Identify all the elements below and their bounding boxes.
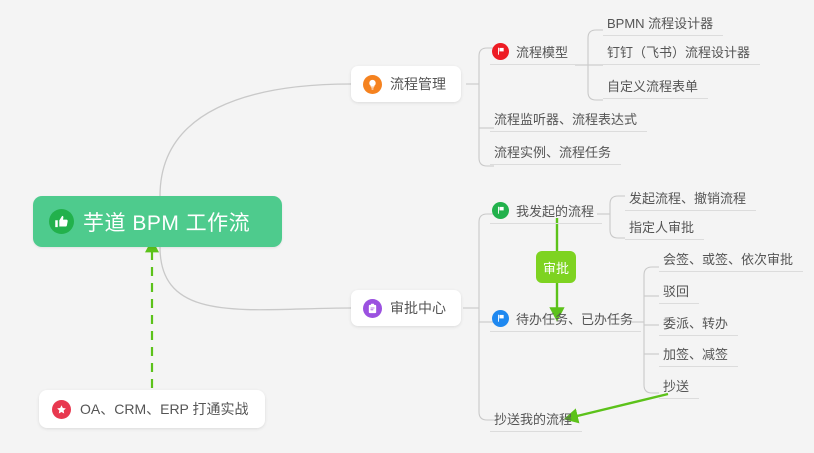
clipboard-icon [363, 299, 382, 318]
root-node[interactable]: 芋道 BPM 工作流 [33, 196, 282, 247]
leaf-node[interactable]: 流程监听器、流程表达式 [490, 105, 647, 132]
flag-icon [492, 43, 509, 60]
leaf-node[interactable]: 委派、转办 [659, 309, 738, 336]
node-my-initiated-processes[interactable]: 我发起的流程 [490, 197, 602, 224]
leaf-node[interactable]: 指定人审批 [625, 213, 704, 240]
node-label: 待办任务、已办任务 [516, 309, 633, 328]
flag-icon [492, 202, 509, 219]
thumbs-up-icon [49, 209, 74, 234]
lightbulb-icon [363, 75, 382, 94]
leaf-node[interactable]: 发起流程、撤销流程 [625, 184, 756, 211]
callout-node-integration[interactable]: OA、CRM、ERP 打通实战 [39, 390, 265, 428]
annotation-approve-label: 审批 [536, 251, 576, 283]
root-label: 芋道 BPM 工作流 [83, 207, 250, 237]
leaf-node[interactable]: 会签、或签、依次审批 [659, 245, 803, 272]
leaf-node[interactable]: 流程实例、流程任务 [490, 138, 621, 165]
leaf-node[interactable]: 抄送我的流程 [490, 405, 582, 432]
branch-node-process-management[interactable]: 流程管理 [351, 66, 461, 102]
leaf-node[interactable]: 驳回 [659, 277, 699, 304]
star-icon [52, 400, 71, 419]
mindmap-canvas: 芋道 BPM 工作流 流程管理 审批中心 [0, 0, 814, 453]
leaf-node[interactable]: 抄送 [659, 372, 699, 399]
branch-label: 审批中心 [390, 298, 446, 318]
callout-label: OA、CRM、ERP 打通实战 [80, 399, 249, 419]
node-label: 我发起的流程 [516, 201, 594, 220]
leaf-node[interactable]: 钉钉（飞书）流程设计器 [603, 38, 760, 65]
branch-node-approval-center[interactable]: 审批中心 [351, 290, 461, 326]
flag-icon [492, 310, 509, 327]
leaf-node[interactable]: BPMN 流程设计器 [603, 9, 723, 36]
node-label: 流程模型 [516, 42, 568, 61]
leaf-node[interactable]: 自定义流程表单 [603, 72, 708, 99]
node-todo-done-tasks[interactable]: 待办任务、已办任务 [490, 305, 641, 332]
node-process-model[interactable]: 流程模型 [490, 38, 576, 65]
leaf-node[interactable]: 加签、减签 [659, 340, 738, 367]
branch-label: 流程管理 [390, 74, 446, 94]
